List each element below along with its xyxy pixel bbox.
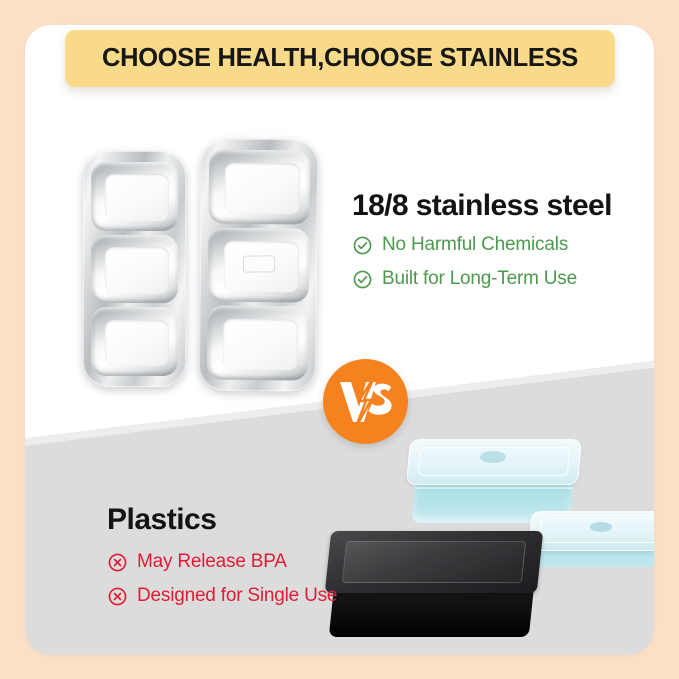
check-circle-icon	[352, 269, 373, 290]
plastic-containers-image	[380, 423, 654, 655]
steel-grade-stamp	[242, 255, 274, 272]
tray-compartment	[208, 149, 310, 224]
steel-tray-left	[83, 151, 186, 387]
tray-compartment	[91, 235, 178, 304]
product-infographic: 18/8 stainless steel No Harmful Chemical…	[0, 0, 679, 679]
benefit-label: Built for Long-Term Use	[382, 268, 577, 290]
vs-badge	[323, 359, 408, 444]
stainless-steel-trays-image	[77, 137, 327, 399]
tray-compartment	[91, 307, 178, 376]
blue-collapsible-container-small	[530, 511, 654, 569]
vs-lightning-icon	[335, 374, 397, 430]
stainless-steel-text-block: 18/8 stainless steel No Harmful Chemical…	[352, 189, 612, 302]
benefit-label: No Harmful Chemicals	[382, 234, 568, 256]
lid-vent	[480, 451, 506, 463]
drawback-item-single-use: Designed for Single Use	[107, 585, 337, 607]
drawback-label: Designed for Single Use	[137, 585, 337, 607]
infographic-card: 18/8 stainless steel No Harmful Chemical…	[25, 25, 654, 655]
drawback-item-bpa: May Release BPA	[107, 551, 337, 573]
x-circle-icon	[107, 552, 128, 573]
stainless-heading: 18/8 stainless steel	[352, 189, 612, 223]
drawback-label: May Release BPA	[137, 551, 287, 573]
tray-compartment	[207, 305, 309, 380]
plastics-text-block: Plastics May Release BPA Designed for Si…	[107, 503, 337, 619]
benefit-item-no-chemicals: No Harmful Chemicals	[352, 234, 612, 256]
container-lid	[529, 511, 654, 551]
check-circle-icon	[352, 235, 373, 256]
container-lid	[325, 531, 544, 593]
x-circle-icon	[107, 586, 128, 607]
header-banner: CHOOSE HEALTH,CHOOSE STAINLESS	[65, 30, 615, 87]
steel-tray-right	[199, 138, 319, 391]
tray-compartment	[208, 227, 310, 302]
lid-vent	[590, 522, 612, 532]
benefit-item-long-term-use: Built for Long-Term Use	[352, 268, 612, 290]
header-banner-text: CHOOSE HEALTH,CHOOSE STAINLESS	[102, 44, 578, 73]
black-meal-prep-container	[328, 531, 540, 641]
plastics-heading: Plastics	[107, 503, 337, 537]
tray-compartment	[91, 162, 178, 231]
